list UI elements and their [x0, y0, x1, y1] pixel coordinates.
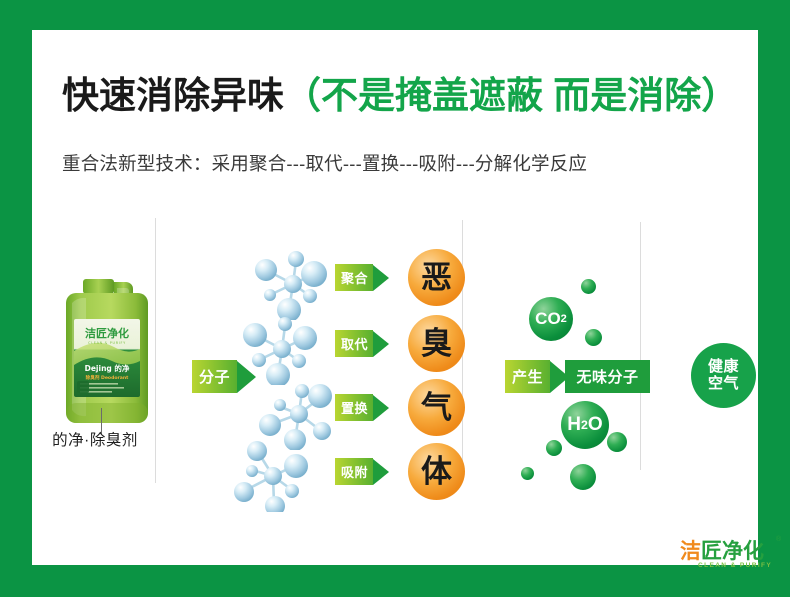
arrow-produce: 产生: [505, 360, 569, 393]
arrow-head-icon: [373, 331, 389, 357]
footer-logo-cn: 洁匠净化: [680, 535, 785, 561]
h2o-subscript: 2: [581, 418, 588, 432]
result-circle-2: 臭: [408, 315, 465, 372]
arrow-step-2-label: 取代: [335, 330, 373, 357]
poster-background: 快速消除异味（不是掩盖遮蔽 而是消除） 重合法新型技术：采用聚合---取代---…: [0, 0, 790, 597]
arrow-head-icon: [373, 459, 389, 485]
co2-molecule-icon: CO2: [529, 297, 573, 341]
svg-text:除臭剂 Deodorant: 除臭剂 Deodorant: [86, 374, 130, 381]
h2o-molecule-icon: H2O: [561, 401, 609, 449]
product-caption: 的净·除臭剂: [32, 428, 158, 450]
arrow-step-4: 吸附: [335, 458, 389, 485]
arrow-step-1-label: 聚合: [335, 264, 373, 291]
svg-text:Dejing 的净: Dejing 的净: [85, 363, 130, 373]
healthy-air-line1: 健康: [708, 359, 739, 376]
panel-divider-3: [640, 222, 641, 470]
page-subtitle: 重合法新型技术：采用聚合---取代---置换---吸附---分解化学反应: [62, 150, 728, 176]
h2o-label-h: H: [567, 414, 581, 436]
green-dot-icon: [521, 467, 534, 480]
svg-text:CLEAN & PURIFY: CLEAN & PURIFY: [88, 341, 126, 345]
arrow-step-4-label: 吸附: [335, 458, 373, 485]
result-circle-4: 体: [408, 443, 465, 500]
footer-logo-en: CLEAN & PURIFY: [698, 562, 788, 569]
molecule-cluster-icon: [237, 313, 327, 385]
page-title-black: 快速消除异味: [62, 75, 284, 116]
page-title-green: （不是掩盖遮蔽 而是消除）: [284, 75, 738, 116]
result-circle-3: 气: [408, 379, 465, 436]
registered-trademark-icon: ®: [776, 536, 781, 543]
green-dot-icon: [546, 440, 562, 456]
arrow-step-3: 置换: [335, 394, 389, 421]
arrow-head-icon: [373, 265, 389, 291]
healthy-air-line2: 空气: [708, 376, 739, 393]
arrow-produce-label: 产生: [505, 360, 550, 393]
odorless-molecule-bar: 无味分子: [565, 360, 650, 393]
footer-logo-cn-rest: 匠净化: [701, 540, 764, 563]
green-dot-icon: [570, 464, 596, 490]
molecule-cluster-icon: [228, 440, 318, 512]
page-title: 快速消除异味（不是掩盖遮蔽 而是消除）: [62, 75, 728, 118]
co2-label: CO: [535, 309, 561, 329]
arrow-step-1: 聚合: [335, 264, 389, 291]
green-dot-icon: [581, 279, 596, 294]
poster-card: 快速消除异味（不是掩盖遮蔽 而是消除） 重合法新型技术：采用聚合---取代---…: [32, 30, 758, 565]
arrow-step-3-label: 置换: [335, 394, 373, 421]
result-circle-1: 恶: [408, 249, 465, 306]
h2o-label-o: O: [588, 414, 603, 436]
arrow-step-2: 取代: [335, 330, 389, 357]
footer-logo: 洁匠净化 ® CLEAN & PURIFY: [680, 535, 785, 575]
footer-logo-cn-first: 洁: [680, 540, 701, 563]
healthy-air-circle: 健康 空气: [691, 343, 756, 408]
green-dot-icon: [607, 432, 627, 452]
molecule-cluster-icon: [248, 248, 338, 320]
co2-subscript: 2: [561, 313, 567, 325]
svg-text:洁匠净化: 洁匠净化: [85, 326, 129, 340]
arrow-molecule-label: 分子: [192, 360, 237, 393]
arrow-head-icon: [373, 395, 389, 421]
green-dot-icon: [585, 329, 602, 346]
